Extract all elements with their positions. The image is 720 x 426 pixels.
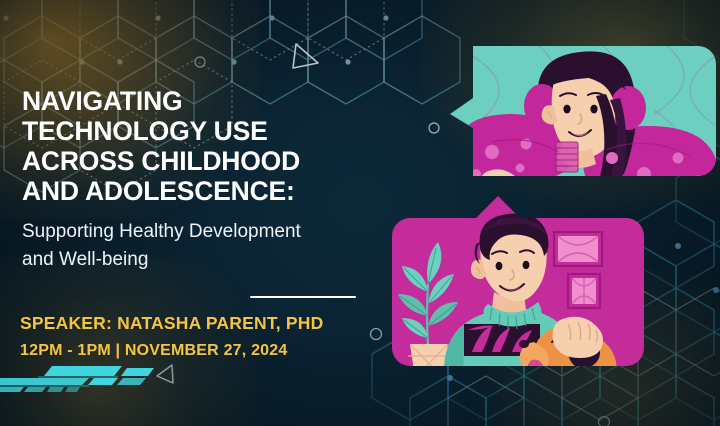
divider-line <box>250 296 356 298</box>
speaker-label: SPEAKER: NATASHA PARENT, PHD <box>20 313 323 334</box>
datetime-label: 12PM - 1PM | NOVEMBER 27, 2024 <box>20 342 287 360</box>
illustration-girl-with-headphones <box>430 46 720 216</box>
page-title: NAVIGATING TECHNOLOGY USE ACROSS CHILDHO… <box>22 86 422 206</box>
illustration-boy-with-dog <box>388 196 648 378</box>
triangle-outline-icon <box>288 42 322 77</box>
event-poster: NAVIGATING TECHNOLOGY USE ACROSS CHILDHO… <box>0 0 720 426</box>
page-subtitle: Supporting Healthy Development and Well-… <box>22 218 412 274</box>
tech-speed-line-graphic <box>0 364 204 405</box>
